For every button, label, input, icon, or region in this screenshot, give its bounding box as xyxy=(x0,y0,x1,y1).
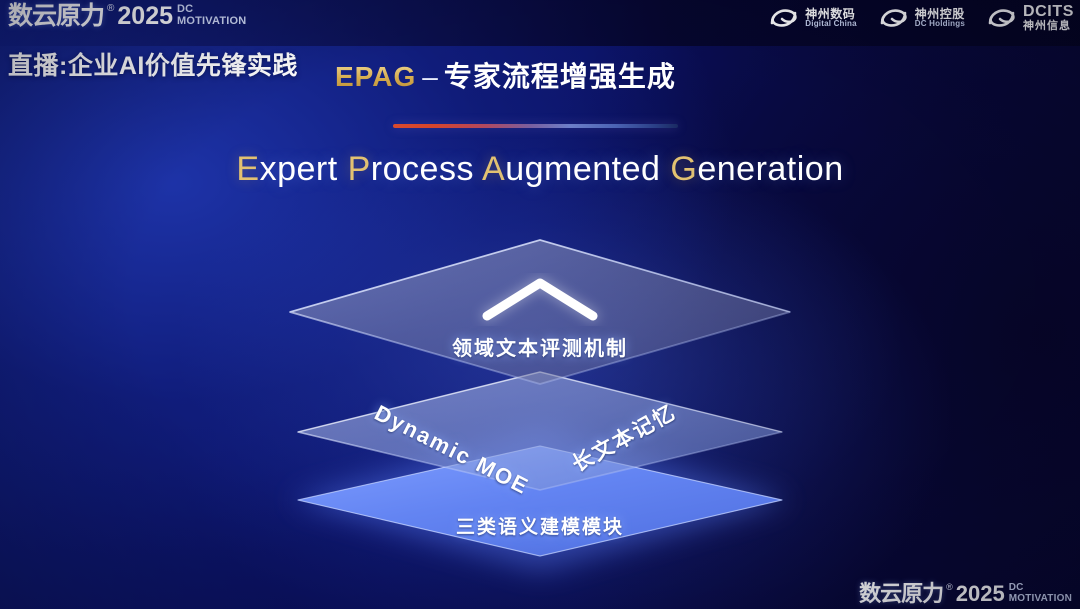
middle-layer-plate xyxy=(298,372,782,490)
layer-label-bottom: 三类语义建模模块 xyxy=(456,512,624,539)
brand-dc-bottom-text: MOTIVATION xyxy=(177,15,246,27)
watermark-name-cn: 数云原力 xyxy=(859,582,943,605)
diagram-layer-top[interactable] xyxy=(290,240,790,384)
slide-title-chinese: 专家流程增强生成 xyxy=(444,61,676,92)
subtitle-rest-process: rocess xyxy=(371,150,474,188)
chevron-up-icon xyxy=(487,283,593,316)
top-layer-highlight xyxy=(290,240,790,312)
subtitle-word-augmented: Augmented xyxy=(482,150,660,188)
logo-digital-china-text: 神州数码 Digital China xyxy=(805,8,857,29)
slide-title-acronym: EPAG xyxy=(335,61,416,92)
bottom-layer-glow xyxy=(290,430,790,572)
gradient-divider xyxy=(393,124,678,128)
top-layer-plate xyxy=(290,240,790,384)
subtitle-word-generation: Generation xyxy=(670,150,843,188)
dcits-swirl-icon xyxy=(987,7,1017,29)
brand-dc-motivation: DC MOTIVATION xyxy=(177,4,246,27)
bottom-layer-highlight xyxy=(298,446,782,556)
brand-name-cn: 数云原力 xyxy=(8,3,104,29)
slide-title-dash: – xyxy=(422,61,438,92)
watermark-year: 2025 xyxy=(956,582,1005,605)
logo-dc-holdings-text: 神州控股 DC Holdings xyxy=(915,8,965,29)
watermark-registered-mark: ® xyxy=(946,582,953,592)
partner-logos: 神州数码 Digital China 神州控股 DC Holdings DCIT… xyxy=(769,4,1074,32)
logo-dcits: DCITS 神州信息 xyxy=(987,4,1074,32)
slide-canvas: 数云原力 ® 2025 DC MOTIVATION 直播:企业AI价值先锋实践 … xyxy=(0,0,1080,609)
layer-label-top: 领域文本评测机制 xyxy=(452,332,628,361)
bottom-layer-plate xyxy=(298,446,782,556)
logo-digital-china: 神州数码 Digital China xyxy=(769,7,857,29)
slide-title: EPAG–专家流程增强生成 xyxy=(335,55,676,95)
watermark-dc-bottom-text: MOTIVATION xyxy=(1009,593,1072,604)
watermark-dc-top-text: DC xyxy=(1009,583,1072,593)
subtitle-rest-expert: xpert xyxy=(260,150,338,188)
logo-dcits-cn: 神州信息 xyxy=(1023,21,1074,33)
diagram-layer-middle[interactable] xyxy=(298,372,782,490)
subtitle-rest-augmented: ugmented xyxy=(505,150,660,188)
brand-logo: 数云原力 ® 2025 DC MOTIVATION xyxy=(8,3,246,29)
layer-label-middle-right: 长文本记忆 xyxy=(566,396,681,478)
brand-dc-top-text: DC xyxy=(177,4,246,15)
subtitle-cap-g: G xyxy=(670,150,697,188)
logo-digital-china-en: Digital China xyxy=(805,20,857,28)
watermark-brand-logo: 数云原力 ® 2025 DC MOTIVATION xyxy=(859,582,1072,605)
live-stream-title: 直播:企业AI价值先锋实践 xyxy=(8,46,298,82)
subtitle-rest-generation: eneration xyxy=(697,150,843,188)
subtitle-cap-a: A xyxy=(482,150,505,188)
logo-dc-holdings: 神州控股 DC Holdings xyxy=(879,7,965,29)
logo-dcits-text: DCITS 神州信息 xyxy=(1023,4,1074,32)
subtitle-cap-e: E xyxy=(236,150,259,188)
subtitle-word-process: Process xyxy=(348,150,474,188)
diagram-layer-bottom[interactable] xyxy=(298,446,782,556)
digital-china-swirl-icon xyxy=(769,7,799,29)
brand-registered-mark: ® xyxy=(107,3,114,14)
watermark-dc-motivation: DC MOTIVATION xyxy=(1009,583,1072,604)
layer-label-middle-left: Dynamic MOE xyxy=(370,400,533,500)
brand-year: 2025 xyxy=(117,3,173,29)
logo-dcits-name: DCITS xyxy=(1023,4,1074,21)
slide-subtitle: Expert Process Augmented Generation xyxy=(236,150,843,189)
subtitle-cap-p: P xyxy=(348,150,371,188)
logo-dc-holdings-en: DC Holdings xyxy=(915,20,965,28)
subtitle-word-expert: Expert xyxy=(236,150,337,188)
dc-holdings-swirl-icon xyxy=(879,7,909,29)
